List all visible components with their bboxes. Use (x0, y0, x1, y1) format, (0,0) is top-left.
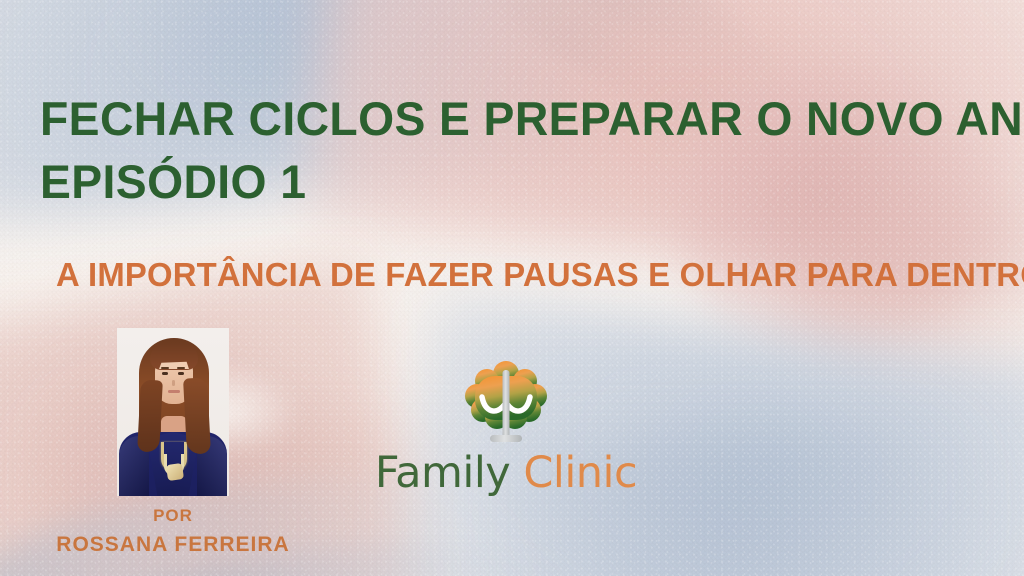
portrait-hair-right (183, 377, 211, 454)
portrait-image (117, 328, 229, 496)
portrait-hair-left (137, 379, 163, 452)
headline-line-1: FECHAR CICLOS E PREPARAR O NOVO ANO (40, 88, 986, 151)
slide-canvas: FECHAR CICLOS E PREPARAR O NOVO ANO EPIS… (0, 0, 1024, 576)
portrait-hair-front (150, 342, 198, 370)
portrait-brow-right (177, 367, 185, 369)
portrait-pendant (166, 463, 184, 481)
tree-icon (456, 352, 556, 452)
logo-wordmark: Family Clinic (372, 448, 640, 498)
family-clinic-logo: Family Clinic (372, 352, 640, 508)
speaker-portrait (117, 328, 229, 496)
byline-name: ROSSANA FERREIRA (45, 529, 301, 561)
headline-line-2: EPISÓDIO 1 (40, 151, 986, 214)
portrait-eye-right (178, 372, 184, 375)
portrait-nose (172, 380, 175, 386)
logo-word-family: Family (375, 448, 510, 498)
portrait-eye-left (162, 372, 168, 375)
portrait-brow-left (161, 367, 169, 369)
byline: POR ROSSANA FERREIRA (45, 503, 301, 560)
subtitle: A IMPORTÂNCIA DE FAZER PAUSAS E OLHAR PA… (56, 256, 1024, 294)
title-block: FECHAR CICLOS E PREPARAR O NOVO ANO EPIS… (40, 88, 1000, 213)
portrait-mouth (168, 390, 180, 393)
byline-prefix: POR (45, 503, 301, 529)
slide-content: FECHAR CICLOS E PREPARAR O NOVO ANO EPIS… (0, 0, 1024, 576)
logo-word-clinic: Clinic (523, 448, 637, 498)
